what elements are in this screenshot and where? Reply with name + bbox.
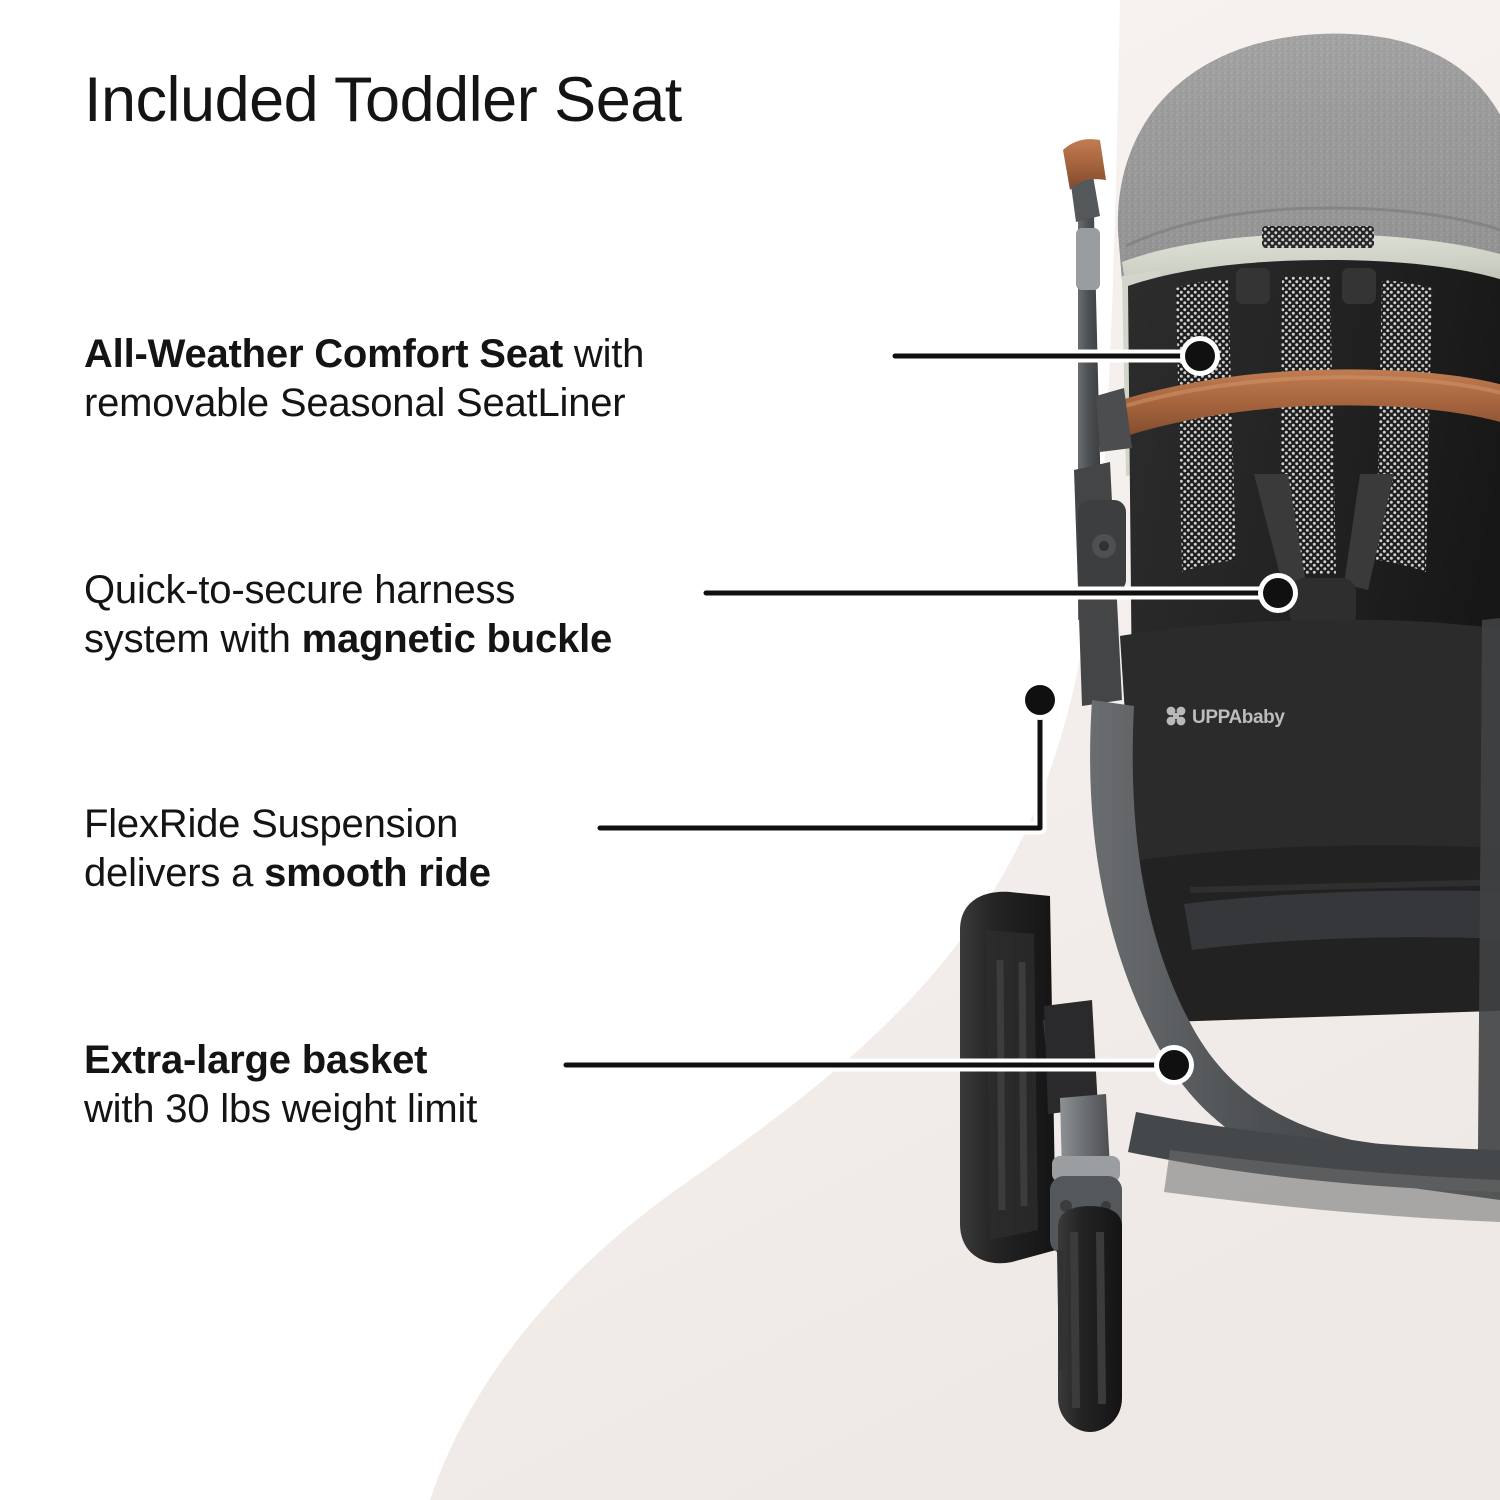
callout-regular-text: with 30 lbs weight limit bbox=[84, 1087, 477, 1131]
leader-line-flexride-suspension bbox=[600, 680, 1060, 828]
callout-bold-text: magnetic buckle bbox=[302, 617, 612, 661]
callout-bold-text: All-Weather Comfort Seat bbox=[84, 332, 563, 376]
callout-line-1: Quick-to-secure harness bbox=[84, 566, 612, 615]
callout-regular-text: FlexRide Suspension bbox=[84, 802, 458, 846]
callout-line-1: All-Weather Comfort Seat with bbox=[84, 330, 644, 379]
leader-lines-group bbox=[0, 0, 1500, 1500]
callout-quick-to-secure-harness: Quick-to-secure harness system with magn… bbox=[84, 566, 612, 664]
callout-all-weather-comfort-seat: All-Weather Comfort Seat with removable … bbox=[84, 330, 644, 428]
callout-bold-text: Extra-large basket bbox=[84, 1038, 427, 1082]
callout-regular-text: system with bbox=[84, 617, 302, 661]
rear-wheel bbox=[960, 892, 1056, 1263]
uppababy-logo: UPPAbaby bbox=[1167, 707, 1286, 728]
callout-line-2: with 30 lbs weight limit bbox=[84, 1085, 477, 1134]
leader-dot bbox=[1263, 578, 1293, 608]
callout-regular-text: Quick-to-secure harness bbox=[84, 568, 515, 612]
leader-dot bbox=[1159, 1050, 1189, 1080]
leader-line-extra-large-basket bbox=[566, 1045, 1194, 1085]
background-swoosh bbox=[0, 0, 1500, 1500]
leader-dot bbox=[1025, 685, 1055, 715]
callout-flexride-suspension: FlexRide Suspension delivers a smooth ri… bbox=[84, 800, 491, 898]
callout-regular-text: with bbox=[563, 332, 644, 376]
leader-line-all-weather-comfort-seat bbox=[895, 336, 1220, 376]
callout-line-2: delivers a smooth ride bbox=[84, 849, 491, 898]
callout-bold-text: smooth ride bbox=[264, 851, 491, 895]
callout-regular-text: delivers a bbox=[84, 851, 264, 895]
infographic-canvas: UPPAbaby bbox=[0, 0, 1500, 1500]
svg-text:UPPAbaby: UPPAbaby bbox=[1192, 707, 1285, 728]
leader-line-quick-to-secure-harness bbox=[706, 573, 1298, 613]
callout-regular-text: removable Seasonal SeatLiner bbox=[84, 381, 625, 425]
stroller-product-image: UPPAbaby bbox=[0, 0, 1500, 1500]
callout-line-2: system with magnetic buckle bbox=[84, 615, 612, 664]
front-wheel bbox=[1050, 1094, 1122, 1432]
callout-line-2: removable Seasonal SeatLiner bbox=[84, 379, 644, 428]
callout-extra-large-basket: Extra-large basket with 30 lbs weight li… bbox=[84, 1036, 477, 1134]
leader-dot bbox=[1185, 341, 1215, 371]
callout-line-1: FlexRide Suspension bbox=[84, 800, 491, 849]
callout-line-1: Extra-large basket bbox=[84, 1036, 477, 1085]
page-title: Included Toddler Seat bbox=[84, 66, 682, 135]
